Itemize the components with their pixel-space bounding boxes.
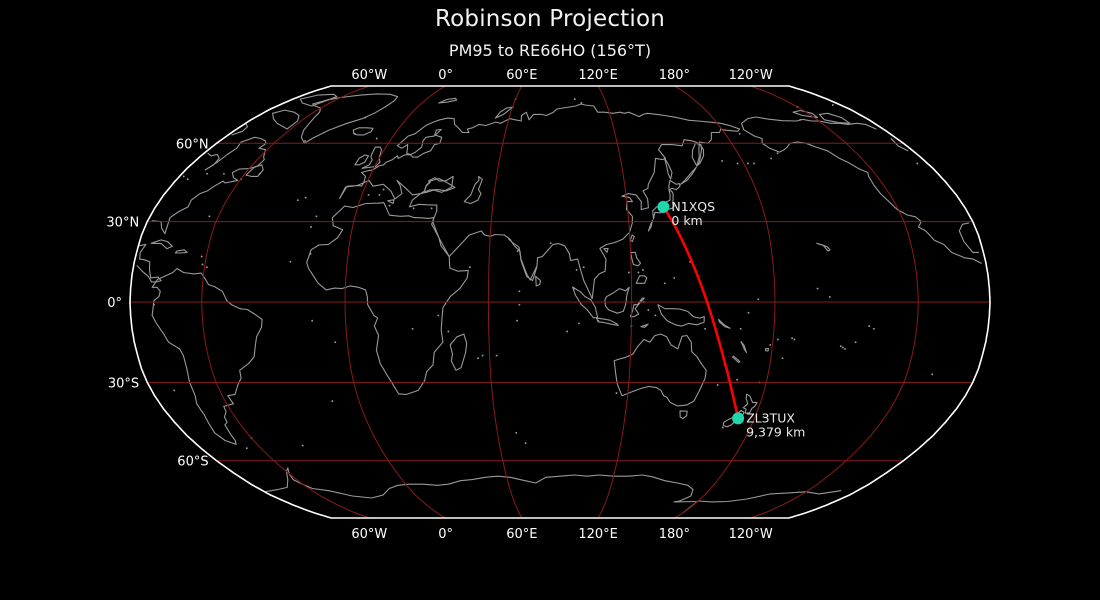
coastlines-layer xyxy=(129,94,981,513)
coastline-madagascar xyxy=(450,334,467,370)
coastline-srilanka xyxy=(536,276,541,286)
coastline-africa xyxy=(307,203,469,395)
island-dot xyxy=(770,157,772,159)
island-dot xyxy=(769,344,771,346)
island-dot xyxy=(916,163,918,165)
coastline-namerica xyxy=(742,117,876,130)
lon-tick-top-120°W: 120°W xyxy=(729,68,773,83)
island-dot xyxy=(717,384,719,386)
island-dot xyxy=(736,379,738,381)
island-dot xyxy=(842,347,844,349)
island-dot xyxy=(576,269,578,271)
island-dot xyxy=(647,309,649,311)
island-dot xyxy=(412,328,414,330)
lat-tick-60°S: 60°S xyxy=(177,455,208,470)
island-dot xyxy=(334,341,336,343)
lat-tick-30°N: 30°N xyxy=(106,216,139,231)
island-dot xyxy=(153,304,155,306)
coastline-solomon xyxy=(719,319,731,328)
island-dot xyxy=(376,138,378,140)
coastline-sakhalin xyxy=(664,158,672,180)
island-dot xyxy=(840,345,842,347)
lon-tick-bottom-60°E: 60°E xyxy=(506,527,537,542)
island-dot xyxy=(206,266,208,268)
lat-tick-0°: 0° xyxy=(107,296,122,311)
island-dot xyxy=(873,328,875,330)
lon-tick-top-0°: 0° xyxy=(438,68,453,83)
island-dot xyxy=(302,445,304,447)
coastline-ireland xyxy=(355,155,369,165)
lon-tick-bottom-120°E: 120°E xyxy=(578,527,618,542)
coastline-caspian xyxy=(464,176,482,203)
island-dot xyxy=(791,337,793,339)
island-dot xyxy=(246,447,248,449)
coastline-taiwan xyxy=(630,235,634,242)
coastline-svalbard xyxy=(439,98,457,103)
island-dot xyxy=(628,272,630,274)
island-dot xyxy=(518,290,520,292)
coastline-iceland xyxy=(353,128,373,135)
coastline-nguinea2 xyxy=(175,250,187,253)
island-dot xyxy=(496,355,498,357)
coastline-timor xyxy=(641,324,648,327)
island-dot xyxy=(748,312,750,314)
island-dot xyxy=(315,215,317,217)
island-dot xyxy=(201,256,203,258)
station-marker-zl3tux[interactable] xyxy=(732,412,744,424)
coastline-uk xyxy=(362,147,381,168)
island-dot xyxy=(721,160,723,162)
island-dot xyxy=(740,328,742,330)
coastline-newcal xyxy=(733,356,740,362)
island-dot xyxy=(583,266,585,268)
lon-tick-top-60°W: 60°W xyxy=(351,68,387,83)
island-dot xyxy=(931,373,933,375)
coastline-sulawesi xyxy=(630,298,644,317)
coastline-sicily xyxy=(388,200,394,204)
coastline-java xyxy=(597,318,619,325)
coastline-mindanao xyxy=(636,276,647,284)
coastline-hawaii xyxy=(817,243,830,251)
coastline-namerica xyxy=(232,123,248,135)
island-dot xyxy=(739,133,741,135)
island-dot xyxy=(187,178,189,180)
island-dot xyxy=(311,320,313,322)
island-dot xyxy=(259,173,261,175)
island-dot xyxy=(516,320,518,322)
island-dot xyxy=(753,163,755,165)
island-dot xyxy=(515,432,517,434)
lat-tick-60°N: 60°N xyxy=(176,137,209,152)
island-dot xyxy=(844,348,846,350)
island-dot xyxy=(206,173,208,175)
island-dot xyxy=(799,119,801,121)
island-dot xyxy=(482,355,484,357)
lon-tick-top-120°E: 120°E xyxy=(578,68,618,83)
island-dot xyxy=(183,175,185,177)
coastline-samerica xyxy=(152,269,262,445)
island-dot xyxy=(616,392,618,394)
island-dot xyxy=(431,207,433,209)
island-dot xyxy=(737,163,739,165)
lon-tick-bottom-60°W: 60°W xyxy=(351,527,387,542)
island-dot xyxy=(704,328,706,330)
island-dot xyxy=(202,264,204,266)
coastline-antarctica xyxy=(265,468,698,513)
island-dot xyxy=(817,288,819,290)
robinson-map-canvas: N1XQS0 kmZL3TUX9,379 km 0°0°60°E60°E120°… xyxy=(0,0,1100,600)
coastline-antarctica xyxy=(698,491,841,502)
coastline-india_ext xyxy=(509,239,537,280)
island-dot xyxy=(413,207,415,209)
island-dot xyxy=(518,304,520,306)
graticule-layer xyxy=(130,86,990,518)
lon-tick-bottom-180°: 180° xyxy=(659,527,690,542)
island-dot xyxy=(517,250,519,252)
island-dot xyxy=(832,104,834,106)
station-distance-zl3tux: 9,379 km xyxy=(746,424,805,439)
lon-tick-bottom-0°: 0° xyxy=(438,527,453,542)
island-dot xyxy=(389,205,391,207)
coastline-namerica xyxy=(744,130,982,264)
island-dot xyxy=(310,253,312,255)
island-dot xyxy=(447,331,449,333)
lat-tick-30°S: 30°S xyxy=(108,376,139,391)
island-dot xyxy=(673,277,675,279)
island-dot xyxy=(379,194,381,196)
island-dot xyxy=(331,400,333,402)
coastline-kuril xyxy=(681,167,697,184)
coastline-namerica xyxy=(137,244,161,282)
island-dot xyxy=(525,442,527,444)
island-dot xyxy=(477,357,479,359)
island-dot xyxy=(868,325,870,327)
station-distance-n1xqs: 0 km xyxy=(671,213,702,228)
island-dot xyxy=(437,314,439,316)
island-dot xyxy=(208,215,210,217)
island-dot xyxy=(368,194,370,196)
island-dot xyxy=(573,288,575,290)
lon-tick-top-60°E: 60°E xyxy=(506,68,537,83)
station-callsign-n1xqs: N1XQS xyxy=(671,199,715,214)
coastline-borneo xyxy=(605,287,629,313)
island-dot xyxy=(574,98,576,100)
island-dot xyxy=(747,163,749,165)
island-dot xyxy=(383,189,385,191)
island-dot xyxy=(721,322,723,324)
coastline-greenland xyxy=(301,94,397,143)
island-dot xyxy=(304,140,306,142)
island-dot xyxy=(777,339,779,341)
coastline-philippines xyxy=(631,252,641,265)
lon-tick-top-180°: 180° xyxy=(659,68,690,83)
station-marker-n1xqs[interactable] xyxy=(657,201,669,213)
island-dot xyxy=(637,272,639,274)
lon-tick-bottom-120°W: 120°W xyxy=(729,527,773,542)
island-dot xyxy=(289,261,291,263)
island-dot xyxy=(566,331,568,333)
island-dot xyxy=(855,341,857,343)
island-dot xyxy=(310,226,312,228)
island-dot xyxy=(578,322,580,324)
island-dot xyxy=(469,266,471,268)
island-dot xyxy=(223,173,225,175)
island-dot xyxy=(722,427,724,429)
island-dot xyxy=(550,242,552,244)
island-dot xyxy=(757,298,759,300)
coastline-hokkaido xyxy=(669,180,680,190)
map-figure: Robinson Projection PM95 to RE66HO (156°… xyxy=(0,0,1100,600)
island-dot xyxy=(354,133,356,135)
island-dot xyxy=(654,314,656,316)
coastline-hainan xyxy=(604,248,608,252)
island-dot xyxy=(581,102,583,104)
station-callsign-zl3tux: ZL3TUX xyxy=(746,410,795,425)
coastline-tasmania xyxy=(680,411,687,419)
island-dot xyxy=(664,282,666,284)
island-dot xyxy=(829,296,831,298)
coastline-ellesmere xyxy=(300,94,337,106)
island-dot xyxy=(305,197,307,199)
island-dot xyxy=(793,339,795,341)
island-dot xyxy=(642,269,644,271)
island-dot xyxy=(173,389,175,391)
island-dot xyxy=(297,199,299,201)
axis-tick-labels: 0°0°60°E60°E120°E120°E180°180°120°W120°W… xyxy=(106,68,773,542)
coastline-png xyxy=(658,305,704,326)
coastline-vanuatu xyxy=(741,342,746,353)
island-dot xyxy=(597,320,599,322)
coastline-fiji xyxy=(765,349,768,351)
island-dot xyxy=(364,117,366,119)
coastline-namerica xyxy=(152,137,266,233)
island-dot xyxy=(782,357,784,359)
coastline-cuba xyxy=(151,240,172,249)
island-dot xyxy=(777,152,779,154)
